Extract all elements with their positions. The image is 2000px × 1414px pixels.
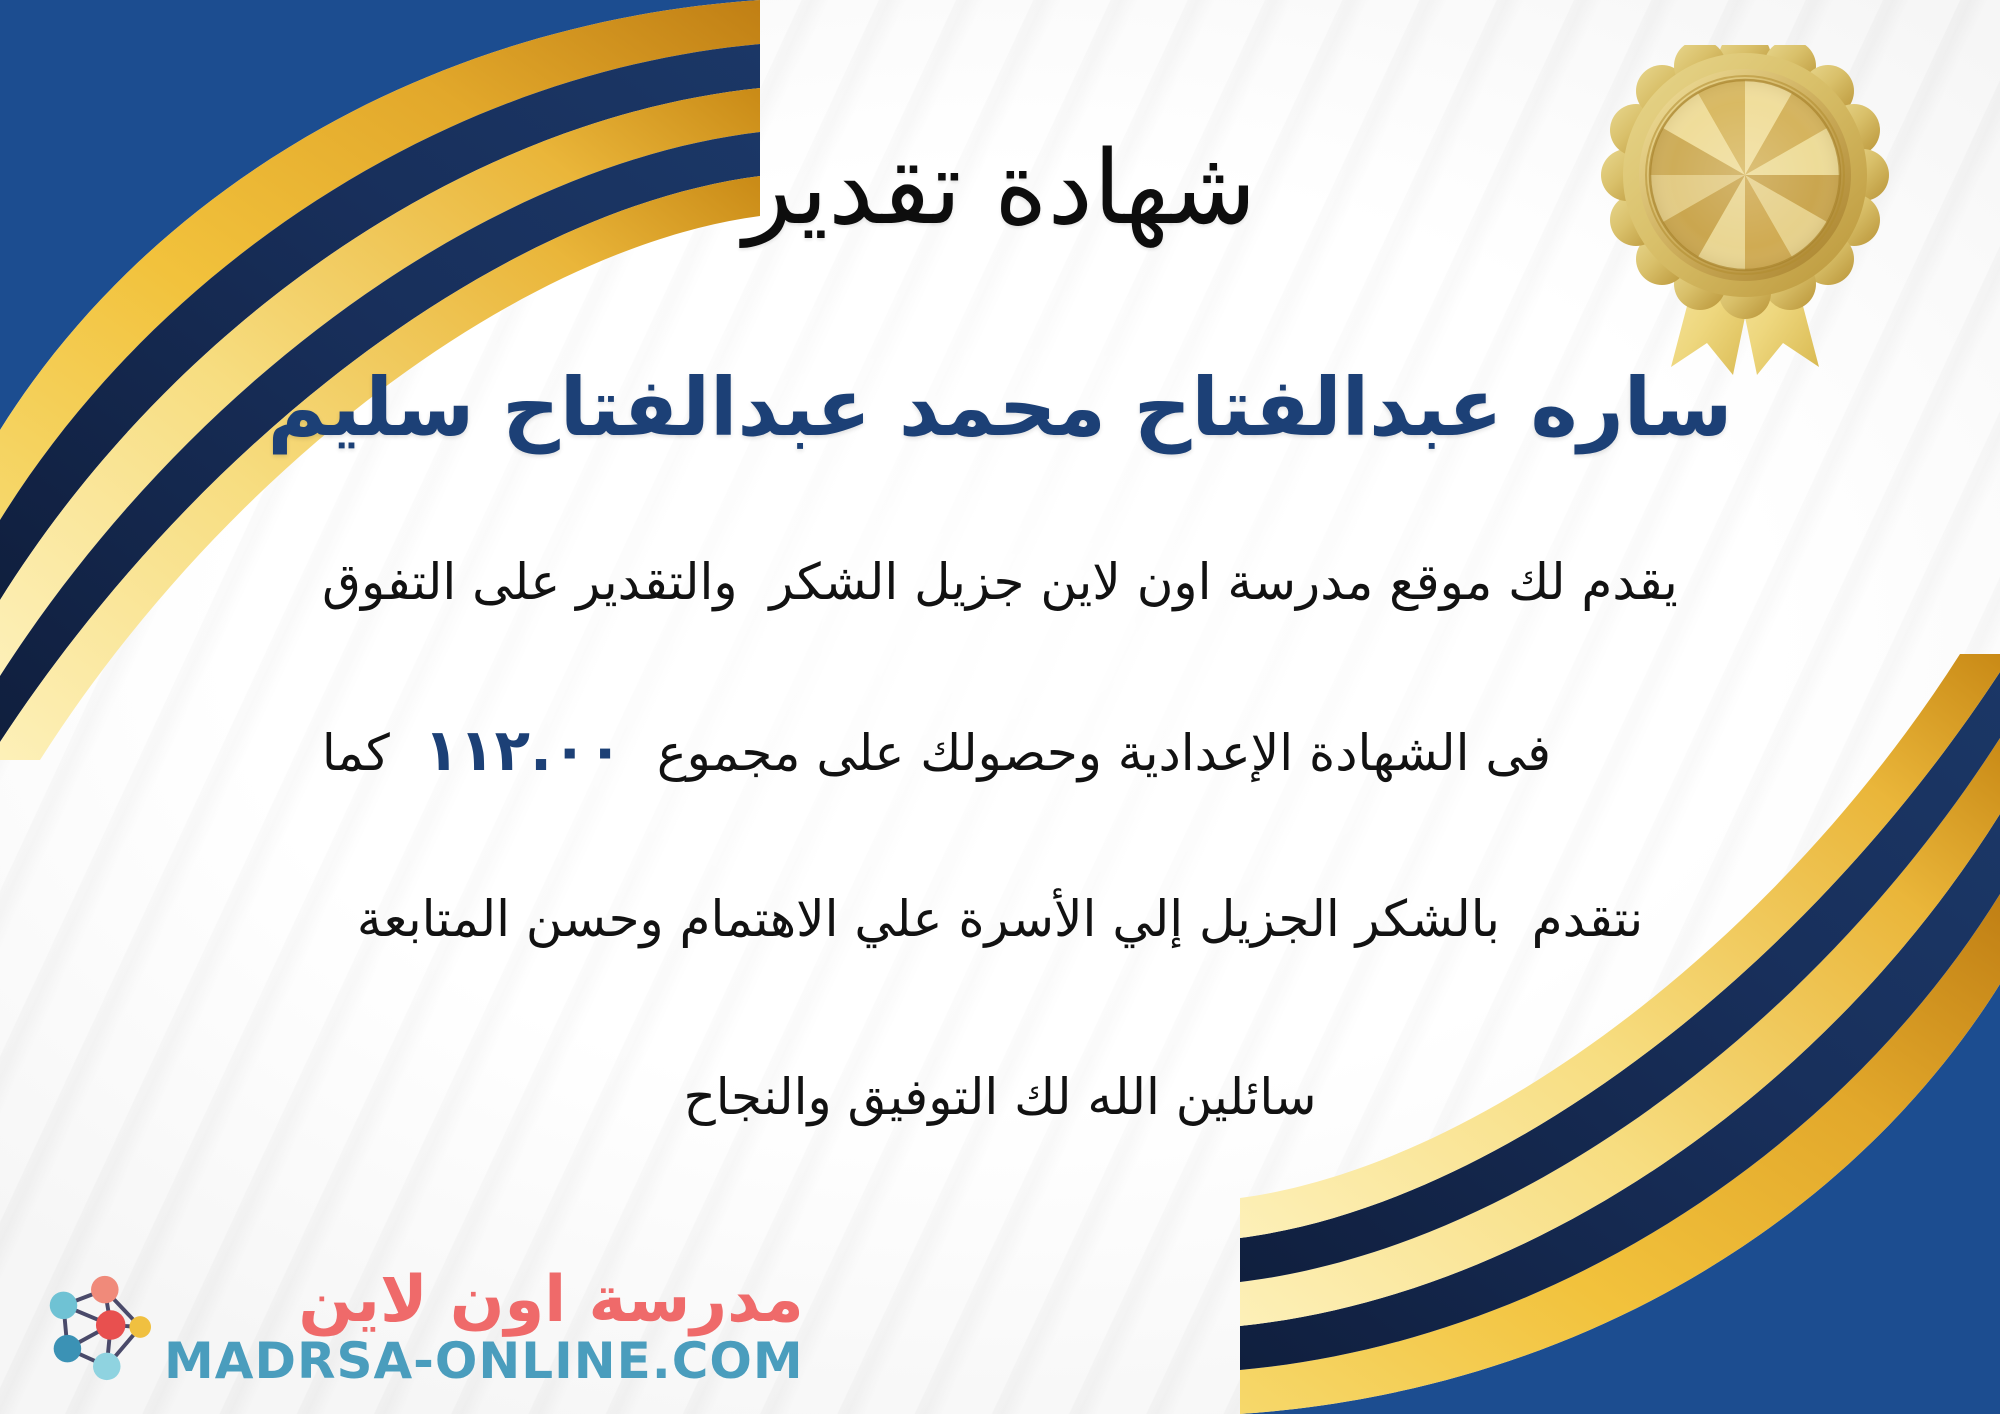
recipient-name: ساره عبدالفتاح محمد عبدالفتاح سليم <box>178 362 1823 454</box>
certificate-page: شهادة تقدير ساره عبدالفتاح محمد عبدالفتا… <box>0 0 2000 1414</box>
page-title: شهادة تقدير <box>743 135 1256 242</box>
body-line-2-suffix: كما <box>322 724 390 782</box>
body-line-2: فى الشهادة الإعدادية وحصولك على مجموع١١٢… <box>85 623 1915 879</box>
brand-arabic-name: مدرسة اون لاين <box>298 1268 803 1332</box>
brand-website[interactable]: MADRSA-ONLINE.COM <box>164 1336 804 1386</box>
body-line-3: نتقدم بالشكر الجزيل إلي الأسرة علي الاهت… <box>85 879 1915 960</box>
certificate-content: شهادة تقدير ساره عبدالفتاح محمد عبدالفتا… <box>0 0 2000 1414</box>
closing-line: سائلين الله لك التوفيق والنجاح <box>683 1068 1316 1126</box>
brand-text: مدرسة اون لاين MADRSA-ONLINE.COM <box>164 1268 804 1386</box>
body-line-1: يقدم لك موقع مدرسة اون لاين جزيل الشكر و… <box>85 542 1915 623</box>
network-nodes-icon <box>34 1268 152 1386</box>
certificate-body: يقدم لك موقع مدرسة اون لاين جزيل الشكر و… <box>85 542 1915 960</box>
total-score-value: ١١٢.٠٠ <box>390 716 657 784</box>
brand-logo[interactable]: مدرسة اون لاين MADRSA-ONLINE.COM <box>34 1268 804 1386</box>
body-line-2-prefix: فى الشهادة الإعدادية وحصولك على مجموع <box>657 724 1551 782</box>
